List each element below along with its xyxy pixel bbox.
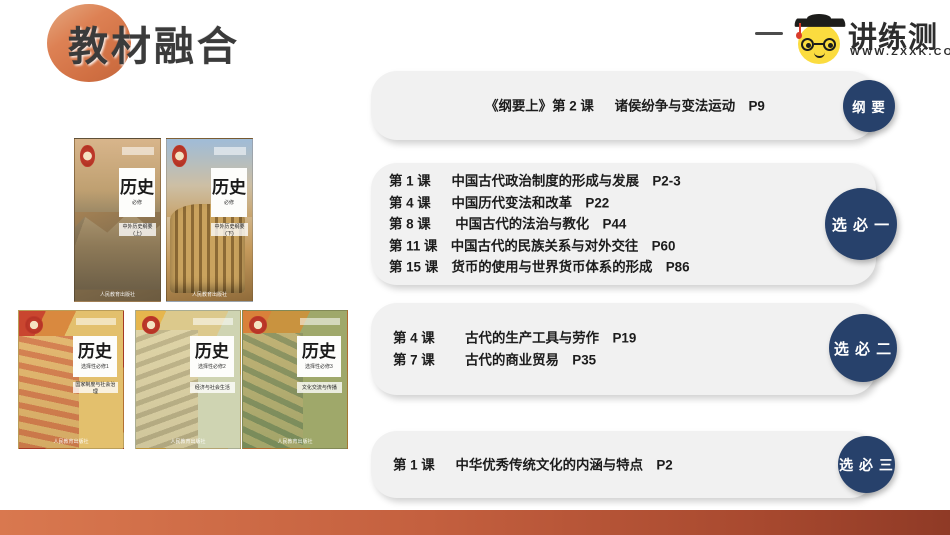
card-line: 第 8 课 中国古代的法治与教化 P44	[389, 213, 819, 235]
header-divider-dash	[755, 32, 783, 35]
book-publisher: 人民教育出版社	[170, 438, 205, 445]
book-volume: 国家制度与社会治理	[73, 382, 118, 393]
book-cover-xuanbi-1: 历史 选择性必修1 国家制度与社会治理 人民教育出版社	[18, 310, 124, 449]
left-pupil	[806, 43, 811, 48]
book-publisher: 人民教育出版社	[53, 438, 88, 445]
card-line: 第 7 课 古代的商业贸易 P35	[393, 349, 823, 371]
ancient-court-illustration	[19, 336, 79, 448]
glasses-bridge	[814, 43, 824, 45]
book-subtitle: 选择性必修3	[305, 363, 333, 370]
badge-xuanbi-2[interactable]: 选 必 二	[829, 314, 897, 382]
card-lines: 第 1 课 中华优秀传统文化的内涵与特点 P2	[393, 454, 823, 476]
book-title: 历史	[302, 343, 336, 360]
book-emblem-icon	[80, 145, 94, 166]
book-cover-xuanbi-3: 历史 选择性必修3 文化交流与传播 人民教育出版社	[242, 310, 348, 449]
book-title-box: 历史 必修	[119, 168, 155, 217]
book-cover-gangyao-xia: 历史 必修 中外历史纲要(下) 人民教育出版社	[166, 138, 253, 302]
book-cover-xuanbi-2: 历史 选择性必修2 经济与社会生活 人民教育出版社	[135, 310, 241, 449]
glasses-right-lens-icon	[823, 38, 836, 51]
book-publisher: 人民教育出版社	[100, 291, 135, 298]
book-volume: 中外历史纲要(上)	[119, 223, 156, 236]
glasses-left-lens-icon	[801, 38, 814, 51]
content-card-xuanbi-2[interactable]: 第 4 课 古代的生产工具与劳作 P19 第 7 课 古代的商业贸易 P35 选…	[371, 303, 876, 395]
card-line: 《纲要上》第 2 课 诸侯纷争与变法运动 P9	[395, 95, 855, 117]
book-title-box: 历史 选择性必修2	[190, 336, 234, 377]
badge-xuanbi-1[interactable]: 选 必 一	[825, 188, 897, 260]
card-lines: 第 1 课 中国古代政治制度的形成与发展 P2-3 第 4 课 中国历代变法和改…	[389, 170, 819, 278]
book-title-box: 历史 选择性必修3	[297, 336, 341, 377]
content-card-xuanbi-3[interactable]: 第 1 课 中华优秀传统文化的内涵与特点 P2 选 必 三	[371, 431, 876, 498]
page-title: 教材融合	[68, 14, 240, 72]
content-card-xuanbi-1[interactable]: 第 1 课 中国古代政治制度的形成与发展 P2-3 第 4 课 中国历代变法和改…	[371, 163, 876, 285]
book-subtitle: 必修	[224, 199, 234, 206]
card-lines: 第 4 课 古代的生产工具与劳作 P19 第 7 课 古代的商业贸易 P35	[393, 328, 823, 371]
book-subtitle: 选择性必修2	[198, 363, 226, 370]
card-line: 第 1 课 中华优秀传统文化的内涵与特点 P2	[393, 454, 823, 476]
book-title-box: 历史 选择性必修1	[73, 336, 117, 377]
book-emblem-icon	[172, 145, 186, 166]
book-title: 历史	[212, 179, 246, 196]
brand-logo: 讲练测 WWW.ZXXK.COM	[796, 6, 946, 62]
book-publisher: 人民教育出版社	[192, 291, 227, 298]
book-emblem-icon	[25, 316, 43, 334]
book-emblem-icon	[249, 316, 267, 334]
card-line: 第 4 课 古代的生产工具与劳作 P19	[393, 328, 823, 350]
slide-root: 教材融合 讲练测 WWW.ZXXK.COM	[0, 0, 950, 535]
graduation-cap-icon	[795, 16, 845, 29]
book-title: 历史	[120, 179, 154, 196]
book-subtitle: 必修	[132, 199, 142, 206]
footer-bar	[0, 510, 950, 535]
book-title-box: 历史 必修	[211, 168, 247, 217]
silk-road-illustration	[243, 333, 303, 448]
market-scene-illustration	[136, 330, 198, 448]
colosseum-illustration	[170, 204, 245, 293]
book-title: 历史	[195, 343, 229, 360]
logo-url-text: WWW.ZXXK.COM	[850, 46, 950, 58]
book-subtitle: 选择性必修1	[81, 363, 109, 370]
card-line: 第 1 课 中国古代政治制度的形成与发展 P2-3	[389, 170, 819, 192]
book-series-line	[193, 318, 233, 325]
book-series-line	[300, 318, 340, 325]
book-title: 历史	[78, 343, 112, 360]
cap-tassel-ball	[796, 32, 802, 39]
book-volume: 中外历史纲要(下)	[211, 223, 248, 236]
badge-xuanbi-3[interactable]: 选 必 三	[838, 436, 895, 493]
card-line: 第 11 课 中国古代的民族关系与对外交往 P60	[389, 235, 819, 257]
cap-board	[794, 18, 846, 26]
graduate-face-icon	[798, 18, 842, 62]
book-volume: 文化交流与传播	[297, 382, 342, 393]
right-pupil	[828, 43, 833, 48]
book-volume: 经济与社会生活	[190, 382, 235, 393]
book-series-line	[76, 318, 116, 325]
textbook-collage: 历史 必修 中外历史纲要(上) 人民教育出版社 历史 必修 中外历史纲要(下) …	[18, 138, 348, 449]
badge-gangyao[interactable]: 纲 要	[843, 80, 895, 132]
card-line: 第 4 课 中国历代变法和改革 P22	[389, 192, 819, 214]
book-series-line	[214, 147, 246, 155]
book-publisher: 人民教育出版社	[277, 438, 312, 445]
book-cover-gangyao-shang: 历史 必修 中外历史纲要(上) 人民教育出版社	[74, 138, 161, 302]
content-card-gangyao[interactable]: 《纲要上》第 2 课 诸侯纷争与变法运动 P9 纲 要	[371, 71, 876, 140]
card-line: 第 15 课 货币的使用与世界货币体系的形成 P86	[389, 256, 819, 278]
card-lines: 《纲要上》第 2 课 诸侯纷争与变法运动 P9	[395, 95, 855, 117]
book-series-line	[122, 147, 154, 155]
